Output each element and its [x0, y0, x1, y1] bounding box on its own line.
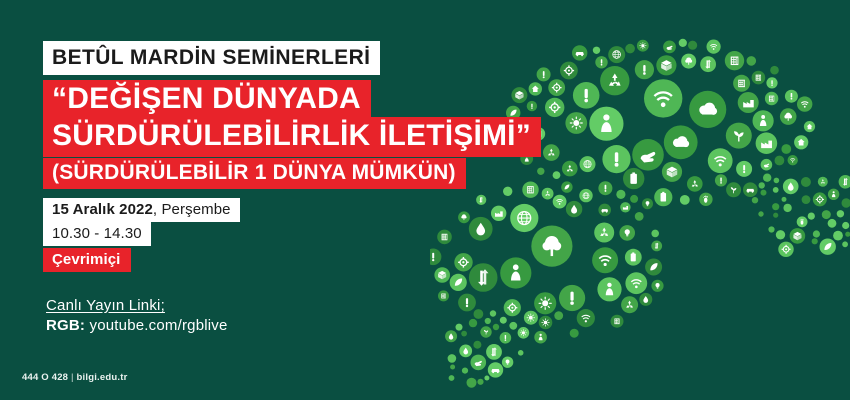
- tree-icon: [801, 177, 811, 187]
- lightbulb-icon: [783, 204, 791, 212]
- event-time: 10.30 - 14.30: [43, 222, 151, 246]
- live-stream-link[interactable]: RGB: youtube.com/rgblive: [46, 317, 228, 334]
- building-icon: [763, 174, 771, 182]
- battery-icon: [756, 132, 778, 154]
- gear-icon: [778, 242, 793, 257]
- recycle-icon: [621, 296, 638, 313]
- headline-line-3: (SÜRDÜRÜLEBİLİR 1 DÜNYA MÜMKÜN): [43, 158, 466, 189]
- lightbulb-icon: [651, 280, 663, 292]
- recycle-icon: [651, 241, 662, 252]
- leaf-icon: [561, 181, 572, 192]
- recycle-icon: [802, 195, 811, 204]
- tree-icon: [625, 272, 647, 294]
- hand-icon: [632, 139, 664, 171]
- house-icon: [804, 121, 815, 132]
- gear-icon: [560, 62, 578, 80]
- exclamation-icon: [736, 161, 752, 177]
- gear-icon: [812, 238, 818, 244]
- leaf-icon: [773, 187, 779, 193]
- status-badge-online: Çevrimiçi: [43, 248, 131, 272]
- house-icon: [593, 47, 600, 54]
- person-icon: [828, 189, 839, 200]
- tree-icon: [577, 309, 595, 327]
- tree-icon: [775, 156, 785, 166]
- recycle-icon: [594, 223, 614, 243]
- event-date: 15 Aralık 2022, Perşembe: [43, 198, 240, 222]
- recycle-icon: [818, 177, 828, 187]
- plant-icon: [842, 222, 849, 229]
- headline-line-2: SÜRDÜRÜLEBİLİRLİK İLETİŞİMİ”: [43, 117, 541, 157]
- footer-contact: 444 O 428 | bilgi.edu.tr: [22, 372, 127, 383]
- house-icon: [794, 135, 808, 149]
- plant-icon: [625, 44, 635, 54]
- person-icon: [597, 277, 621, 301]
- tree-icon: [842, 241, 848, 247]
- hand-icon: [828, 219, 837, 228]
- exclamation-icon: [715, 174, 727, 186]
- water-drop-icon: [783, 179, 799, 195]
- recycle-icon: [773, 213, 778, 218]
- building-icon: [611, 315, 624, 328]
- hand-icon: [635, 212, 644, 221]
- person-icon: [768, 226, 774, 232]
- live-stream-brand: RGB:: [46, 317, 85, 334]
- seminar-series-kicker: BETÛL MARDİN SEMİNERLERİ: [43, 41, 380, 75]
- building-icon: [725, 51, 744, 70]
- tree-icon: [788, 155, 798, 165]
- car-icon: [759, 182, 765, 188]
- exclamation-icon: [602, 145, 630, 173]
- person-icon: [589, 107, 623, 141]
- exclamation-icon: [573, 82, 600, 109]
- live-stream-url[interactable]: youtube.com/rgblive: [90, 317, 228, 334]
- plant-icon: [813, 230, 820, 237]
- sun-icon: [822, 210, 831, 219]
- leaf-icon: [820, 239, 836, 255]
- live-stream-label: Canlı Yayın Linki;: [46, 297, 165, 314]
- poster-text-column: BETÛL MARDİN SEMİNERLERİ “DEĞİŞEN DÜNYAD…: [0, 0, 560, 400]
- seminar-poster: BETÛL MARDİN SEMİNERLERİ “DEĞİŞEN DÜNYAD…: [0, 0, 850, 400]
- water-drop-icon: [639, 293, 652, 306]
- tree-icon: [780, 108, 797, 125]
- battery-icon: [620, 202, 630, 212]
- recycle-icon: [600, 66, 629, 95]
- water-drop-icon: [770, 66, 779, 75]
- tree-icon: [688, 41, 697, 50]
- box-icon: [774, 178, 780, 184]
- tree-icon: [681, 54, 696, 69]
- footprint-icon: [797, 216, 808, 227]
- hand-icon: [761, 159, 773, 171]
- cloud-icon: [570, 329, 579, 338]
- globe-icon: [579, 189, 592, 202]
- cloud-icon: [664, 125, 698, 159]
- hand-icon: [663, 41, 676, 54]
- building-icon: [752, 71, 766, 85]
- factory-icon: [565, 112, 587, 134]
- lightbulb-icon: [747, 56, 757, 66]
- plant-icon: [726, 182, 741, 197]
- exclamation-icon: [785, 90, 798, 103]
- sun-icon: [625, 249, 642, 266]
- building-icon: [680, 195, 690, 205]
- tree-icon: [644, 79, 682, 117]
- building-icon: [765, 92, 778, 105]
- recycle-icon: [782, 197, 787, 202]
- footprint-icon: [699, 193, 712, 206]
- battery-icon: [738, 92, 759, 113]
- factory-icon: [637, 40, 649, 52]
- box-icon: [656, 55, 676, 75]
- recycle-icon: [700, 56, 716, 72]
- gear-icon: [813, 192, 827, 206]
- leaf-icon: [833, 231, 843, 241]
- globe-icon: [580, 156, 596, 172]
- footer-phone: 444 O 428: [22, 372, 68, 383]
- recycle-icon: [562, 161, 578, 177]
- footprint-icon: [837, 210, 844, 217]
- lightbulb-icon: [642, 198, 653, 209]
- footer-website: bilgi.edu.tr: [77, 372, 128, 383]
- recycle-icon: [842, 198, 850, 207]
- hand-icon: [761, 190, 767, 196]
- water-drop-icon: [566, 201, 582, 217]
- tree-icon: [708, 148, 733, 173]
- lightbulb-icon: [619, 225, 635, 241]
- box-icon: [752, 197, 758, 203]
- building-icon: [733, 75, 750, 92]
- event-weekday: , Perşembe: [153, 201, 231, 218]
- tree-icon: [707, 40, 721, 54]
- person-icon: [753, 110, 774, 131]
- exclamation-icon: [559, 285, 585, 311]
- tree-icon: [808, 213, 815, 220]
- tree-icon: [781, 144, 791, 154]
- tree-icon: [797, 96, 812, 111]
- box-icon: [662, 162, 682, 182]
- sun-icon: [623, 168, 644, 189]
- exclamation-icon: [635, 60, 654, 79]
- headline-line-1: “DEĞİŞEN DÜNYADA: [43, 80, 371, 120]
- factory-icon: [776, 230, 785, 239]
- car-icon: [598, 204, 611, 217]
- cloud-icon: [689, 91, 726, 128]
- globe-icon: [608, 46, 625, 63]
- footer-separator: |: [71, 372, 74, 383]
- car-icon: [572, 45, 587, 60]
- sun-icon: [654, 188, 672, 206]
- tree-icon: [592, 247, 618, 273]
- box-icon: [790, 228, 806, 244]
- house-icon: [630, 195, 638, 203]
- event-date-bold: 15 Aralık 2022: [52, 201, 153, 218]
- person-icon: [651, 230, 659, 238]
- plant-icon: [726, 123, 752, 149]
- person-icon: [616, 190, 625, 199]
- recycle-icon: [687, 176, 703, 192]
- exclamation-icon: [598, 181, 612, 195]
- leaf-icon: [645, 259, 662, 276]
- exclamation-icon: [766, 77, 777, 88]
- globe-icon: [679, 39, 687, 47]
- exclamation-icon: [595, 56, 607, 68]
- exclamation-icon: [772, 203, 779, 210]
- recycle-icon: [839, 175, 850, 189]
- water-drop-icon: [845, 232, 850, 237]
- car-icon: [758, 211, 763, 216]
- car-icon: [743, 182, 758, 197]
